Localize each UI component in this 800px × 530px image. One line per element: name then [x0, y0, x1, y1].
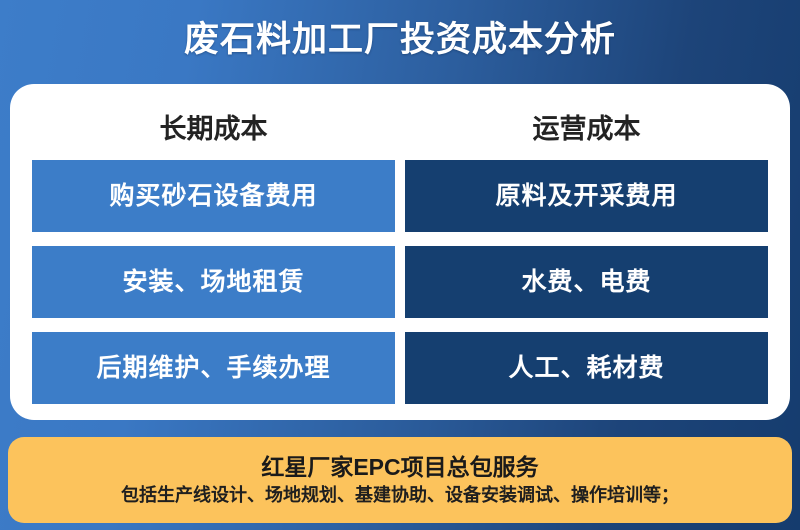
column-header-long-term: 长期成本 [32, 116, 395, 143]
infographic-root: { "title": "废石料加工厂投资成本分析", "columns": [ … [0, 0, 800, 530]
cost-item[interactable]: 安装、场地租赁 [32, 246, 395, 318]
cost-item[interactable]: 水费、电费 [405, 246, 768, 318]
cost-item[interactable]: 后期维护、手续办理 [32, 332, 395, 404]
title-banner: 废石料加工厂投资成本分析 [0, 0, 800, 78]
column-headers: 长期成本 运营成本 [32, 98, 768, 160]
cost-item[interactable]: 购买砂石设备费用 [32, 160, 395, 232]
page-title: 废石料加工厂投资成本分析 [184, 22, 616, 57]
footer-title: 红星厂家EPC项目总包服务 [261, 456, 538, 479]
cost-columns: 购买砂石设备费用 安装、场地租赁 后期维护、手续办理 原料及开采费用 水费、电费… [32, 160, 768, 404]
footer-subtitle: 包括生产线设计、场地规划、基建协助、设备安装调试、操作培训等； [121, 486, 679, 504]
column-long-term: 购买砂石设备费用 安装、场地租赁 后期维护、手续办理 [32, 160, 395, 404]
footer-banner: 红星厂家EPC项目总包服务 包括生产线设计、场地规划、基建协助、设备安装调试、操… [8, 437, 792, 523]
cost-comparison-card: 长期成本 运营成本 购买砂石设备费用 安装、场地租赁 后期维护、手续办理 原料及… [10, 84, 790, 420]
column-operating: 原料及开采费用 水费、电费 人工、耗材费 [405, 160, 768, 404]
column-header-operating: 运营成本 [405, 116, 768, 143]
cost-item[interactable]: 人工、耗材费 [405, 332, 768, 404]
cost-item[interactable]: 原料及开采费用 [405, 160, 768, 232]
